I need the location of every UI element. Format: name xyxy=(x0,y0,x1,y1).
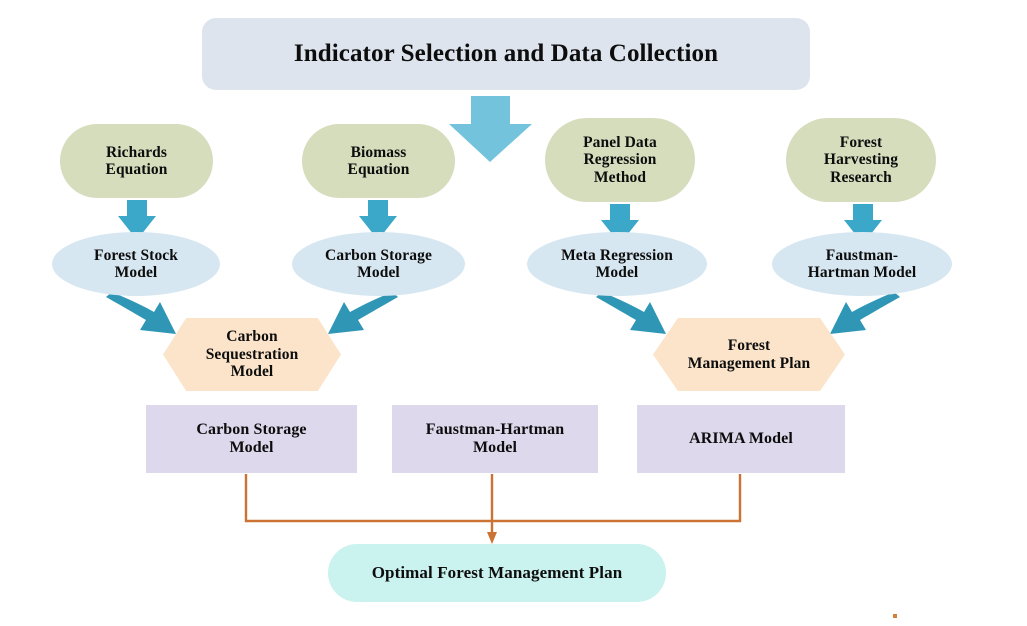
model-node-forest-stock-model[interactable]: Forest Stock Model xyxy=(52,232,220,296)
output-node-carbon-storage-model[interactable]: Carbon Storage Model xyxy=(146,405,357,473)
connector-layer xyxy=(0,0,1027,626)
model-node-faustman-hartman-model[interactable]: Faustman- Hartman Model xyxy=(772,232,952,296)
curved-arrow-down-right-icon-1 xyxy=(106,292,176,334)
model-node-meta-regression-model[interactable]: Meta Regression Model xyxy=(527,232,707,296)
method-node-panel-data-regression-method[interactable]: Panel Data Regression Method xyxy=(545,118,695,202)
page-title: Indicator Selection and Data Collection xyxy=(202,18,810,90)
curved-arrow-down-right-icon-2 xyxy=(596,292,666,334)
method-node-richards-equation[interactable]: Richards Equation xyxy=(60,124,213,198)
curved-arrow-down-left-icon-1 xyxy=(328,292,398,334)
artifact-speck xyxy=(893,614,897,618)
output-node-faustman-hartman-model[interactable]: Faustman-Hartman Model xyxy=(392,405,598,473)
model-node-carbon-storage-model[interactable]: Carbon Storage Model xyxy=(292,232,465,296)
curved-arrow-down-left-icon-2 xyxy=(830,292,900,334)
method-node-forest-harvesting-research[interactable]: Forest Harvesting Research xyxy=(786,118,936,202)
method-node-biomass-equation[interactable]: Biomass Equation xyxy=(302,124,455,198)
output-node-arima-model[interactable]: ARIMA Model xyxy=(637,405,845,473)
main-down-arrow-icon xyxy=(449,96,532,162)
final-node-optimal-forest-management-plan[interactable]: Optimal Forest Management Plan xyxy=(328,544,666,602)
merge-connector xyxy=(246,474,740,544)
synthesis-node-forest-management-plan[interactable]: Forest Management Plan xyxy=(653,318,845,391)
synthesis-node-carbon-sequestration-model[interactable]: Carbon Sequestration Model xyxy=(163,318,341,391)
flowchart-canvas: Indicator Selection and Data Collection … xyxy=(0,0,1027,626)
